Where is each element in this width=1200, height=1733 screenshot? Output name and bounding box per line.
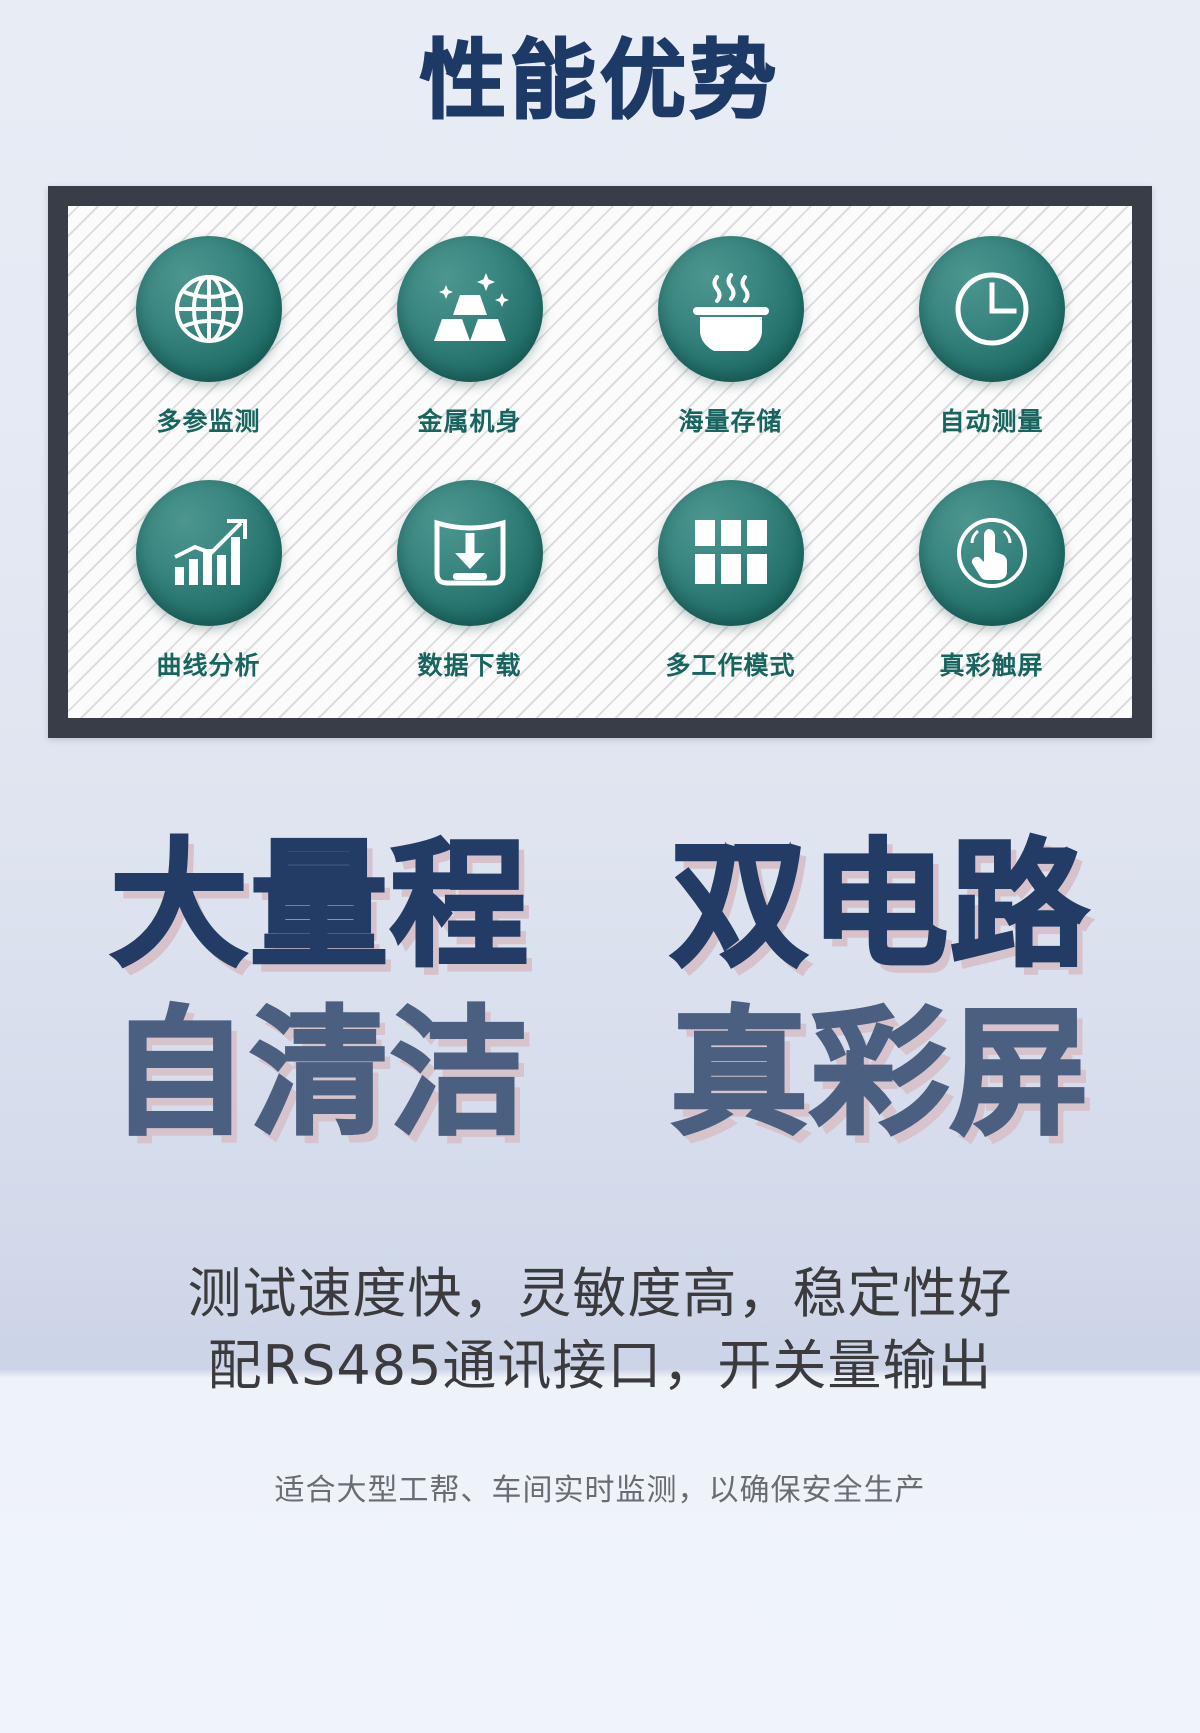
steaming-pot-icon xyxy=(685,267,777,351)
touch-screen-icon xyxy=(948,509,1036,597)
headline-block: 大量程 双电路 自清洁 真彩屏 xyxy=(0,822,1200,1159)
clock-icon xyxy=(948,265,1036,353)
feature-label: 多参监测 xyxy=(156,402,260,438)
summary-note: 适合大型工帮、车间实时监测，以确保安全生产 xyxy=(0,1465,1200,1509)
feature-item-auto-measure[interactable]: 自动测量 xyxy=(861,220,1122,464)
feature-item-touch-screen[interactable]: 真彩触屏 xyxy=(861,464,1122,708)
summary-line-1: 测试速度快，灵敏度高，稳定性好 xyxy=(0,1258,1200,1330)
feature-grid: 多参监测 xyxy=(68,206,1132,718)
globe-icon xyxy=(167,267,251,351)
summary-block: 测试速度快，灵敏度高，稳定性好 配RS485通讯接口，开关量输出 适合大型工帮、… xyxy=(0,1258,1200,1509)
feature-icon-bubble xyxy=(136,480,282,626)
feature-item-curve-analysis[interactable]: 曲线分析 xyxy=(78,464,339,708)
download-icon xyxy=(427,509,513,597)
gold-bars-icon xyxy=(426,267,514,351)
headline-line-2: 自清洁 真彩屏 xyxy=(0,990,1200,1158)
feature-label: 自动测量 xyxy=(939,402,1043,438)
feature-label: 金属机身 xyxy=(417,402,521,438)
feature-icon-bubble xyxy=(136,236,282,382)
headline-line2-part2: 真彩屏 xyxy=(670,993,1090,1154)
feature-icon-bubble xyxy=(658,480,804,626)
feature-icon-bubble xyxy=(397,480,543,626)
feature-icon-bubble xyxy=(919,480,1065,626)
feature-label: 曲线分析 xyxy=(156,646,260,682)
feature-panel-frame: 多参监测 xyxy=(48,186,1152,738)
feature-item-globe[interactable]: 多参监测 xyxy=(78,220,339,464)
feature-label: 数据下载 xyxy=(417,646,521,682)
feature-icon-bubble xyxy=(919,236,1065,382)
feature-item-storage[interactable]: 海量存储 xyxy=(600,220,861,464)
grid-modes-icon xyxy=(689,514,773,592)
feature-label: 海量存储 xyxy=(678,402,782,438)
headline-line1-part2: 双电路 xyxy=(670,825,1090,986)
page-title: 性能优势 xyxy=(420,34,780,129)
summary-line-2: 配RS485通讯接口，开关量输出 xyxy=(0,1330,1200,1402)
feature-icon-bubble xyxy=(397,236,543,382)
feature-label: 真彩触屏 xyxy=(939,646,1043,682)
feature-icon-bubble xyxy=(658,236,804,382)
feature-item-metal-body[interactable]: 金属机身 xyxy=(339,220,600,464)
feature-item-data-download[interactable]: 数据下载 xyxy=(339,464,600,708)
headline-line2-part1: 自清洁 xyxy=(110,993,530,1154)
feature-item-work-modes[interactable]: 多工作模式 xyxy=(600,464,861,708)
headline-line1-part1: 大量程 xyxy=(110,825,530,986)
page-title-container: 性能优势 xyxy=(0,34,1200,129)
feature-label: 多工作模式 xyxy=(665,646,795,682)
bar-chart-icon xyxy=(165,511,253,595)
feature-panel-inner: 多参监测 xyxy=(68,206,1132,718)
headline-line-1: 大量程 双电路 xyxy=(0,822,1200,990)
